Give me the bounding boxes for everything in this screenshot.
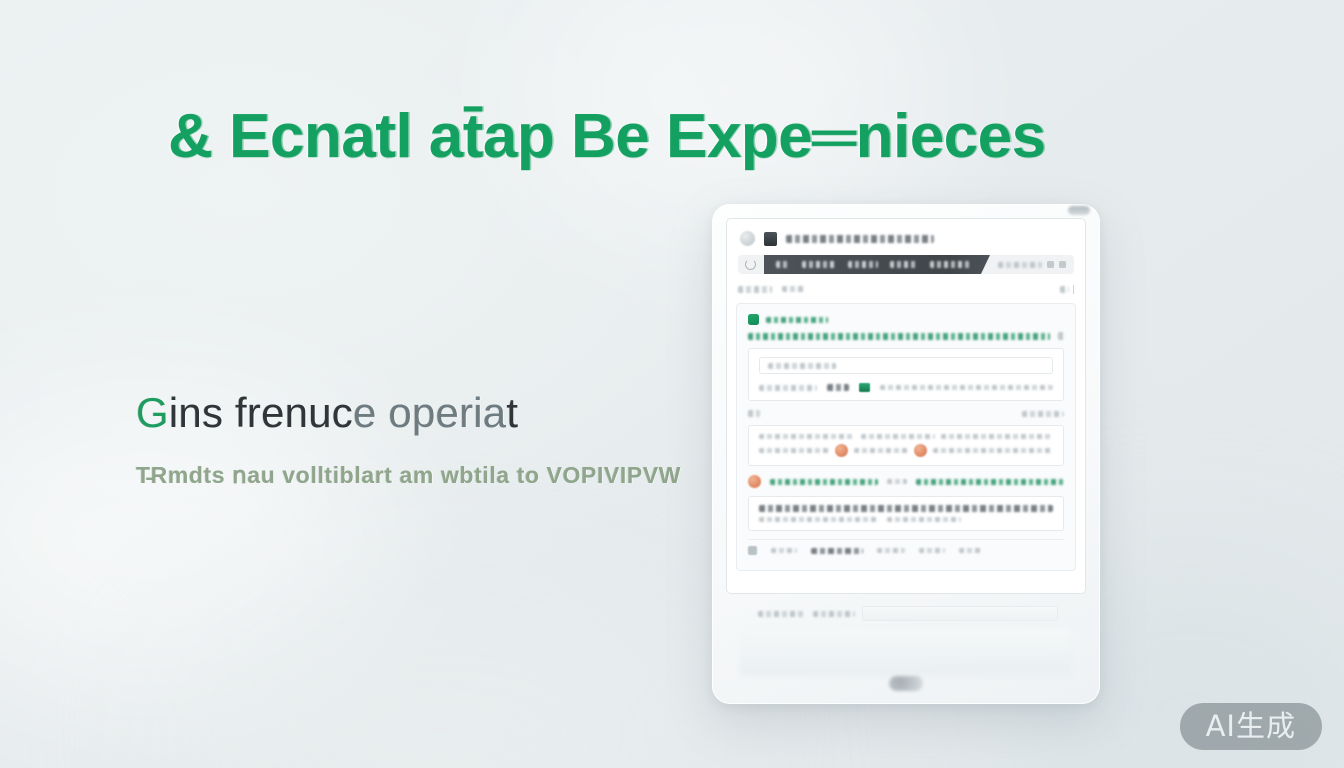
device-lower-row <box>758 606 1058 621</box>
alert-badge-icon <box>835 444 848 457</box>
device-screen <box>726 218 1086 594</box>
nav-item[interactable] <box>802 261 836 268</box>
field-label <box>759 385 817 391</box>
subheading-main: ins frenuc <box>169 389 353 436</box>
status-badge <box>748 314 759 325</box>
reload-icon[interactable] <box>745 259 756 270</box>
row-cell <box>861 434 935 439</box>
more-icon[interactable] <box>1059 261 1066 268</box>
sub-toolbar-meta[interactable] <box>782 286 804 292</box>
sub-toolbar-label[interactable] <box>738 286 772 293</box>
home-tab-icon[interactable] <box>748 546 757 555</box>
row-cell <box>759 448 829 453</box>
hero-subheading: Gins frenuce operiat <box>136 388 518 438</box>
content-panel <box>736 303 1076 571</box>
row-cell <box>759 505 1053 512</box>
sub-toolbar <box>738 282 1074 296</box>
nav-tab-strip[interactable] <box>764 255 990 274</box>
verified-badge-icon <box>859 383 870 392</box>
summary-extra <box>916 479 1064 485</box>
row-cell <box>759 517 879 522</box>
hero-canvas: & Ecnatl at̄ap Be Expe═nieces Gins frenu… <box>0 0 1344 768</box>
app-logo-icon <box>764 232 777 246</box>
row-cell <box>887 517 961 522</box>
text-input[interactable] <box>759 357 1053 374</box>
lower-input[interactable] <box>862 606 1058 621</box>
nav-item[interactable] <box>890 261 918 268</box>
panel-section-header <box>748 314 1064 325</box>
hero-caption: T̵Rmdts ոau volltiblart am wbtila to VOP… <box>136 462 681 489</box>
tab-label[interactable] <box>959 548 983 553</box>
camera-nub-icon <box>1068 206 1090 215</box>
tab-label[interactable] <box>877 548 905 553</box>
subheading-mid: e operia <box>353 389 506 436</box>
subheading-lead: G <box>136 389 169 436</box>
app-header <box>726 218 1086 255</box>
sub-toolbar-tail[interactable] <box>1060 285 1074 294</box>
row-cell <box>759 434 855 439</box>
menu-icon[interactable] <box>1047 261 1054 268</box>
tab-label-active[interactable] <box>811 548 863 554</box>
summary-value <box>887 479 907 484</box>
app-title <box>786 235 934 243</box>
tablet-mockup <box>712 204 1100 704</box>
hero-copy: & Ecnatl at̄ap Be Expe═nieces Gins frenu… <box>0 0 680 768</box>
table-row[interactable] <box>759 517 1053 522</box>
section-body-action[interactable] <box>1058 332 1064 340</box>
form-card <box>748 348 1064 401</box>
navigation-bar[interactable] <box>738 255 1074 274</box>
page-title: & Ecnatl at̄ap Be Expe═nieces <box>168 104 1228 169</box>
summary-row[interactable] <box>748 475 1064 488</box>
panel-meta-row <box>748 410 1064 417</box>
section-body-text <box>748 333 1050 340</box>
input-placeholder <box>768 363 836 369</box>
meta-right <box>1022 411 1064 417</box>
avatar[interactable] <box>740 231 755 246</box>
lower-label <box>758 611 806 617</box>
tab-label[interactable] <box>919 548 945 553</box>
table-row[interactable] <box>759 434 1053 439</box>
summary-label <box>770 479 878 485</box>
ai-watermark: AI生成 <box>1180 703 1322 750</box>
nav-right-actions[interactable] <box>998 261 1066 268</box>
reflection-plate <box>740 628 1072 676</box>
list-card-b[interactable] <box>748 496 1064 531</box>
row-cell <box>854 448 908 453</box>
panel-section-body <box>748 332 1064 340</box>
tab-label[interactable] <box>771 548 797 553</box>
alert-badge-icon <box>914 444 927 457</box>
row-cell <box>933 448 1053 453</box>
field-value <box>827 384 849 391</box>
bottom-tab-bar[interactable] <box>748 539 1064 555</box>
row-cell <box>941 434 1053 439</box>
list-card-a[interactable] <box>748 425 1064 466</box>
field-hint <box>880 385 1053 390</box>
nav-item[interactable] <box>776 261 790 268</box>
divider <box>1073 285 1074 294</box>
home-button[interactable] <box>889 676 923 691</box>
subheading-tail: t <box>506 389 518 436</box>
lower-meta <box>813 611 855 617</box>
category-icon <box>748 475 761 488</box>
nav-item[interactable] <box>930 261 970 268</box>
meta-left <box>748 410 760 417</box>
sub-toolbar-count <box>1060 286 1069 293</box>
field-row <box>759 383 1053 392</box>
nav-item[interactable] <box>848 261 878 268</box>
nav-action-label[interactable] <box>998 262 1042 268</box>
table-row[interactable] <box>759 444 1053 457</box>
section-title <box>766 317 828 323</box>
